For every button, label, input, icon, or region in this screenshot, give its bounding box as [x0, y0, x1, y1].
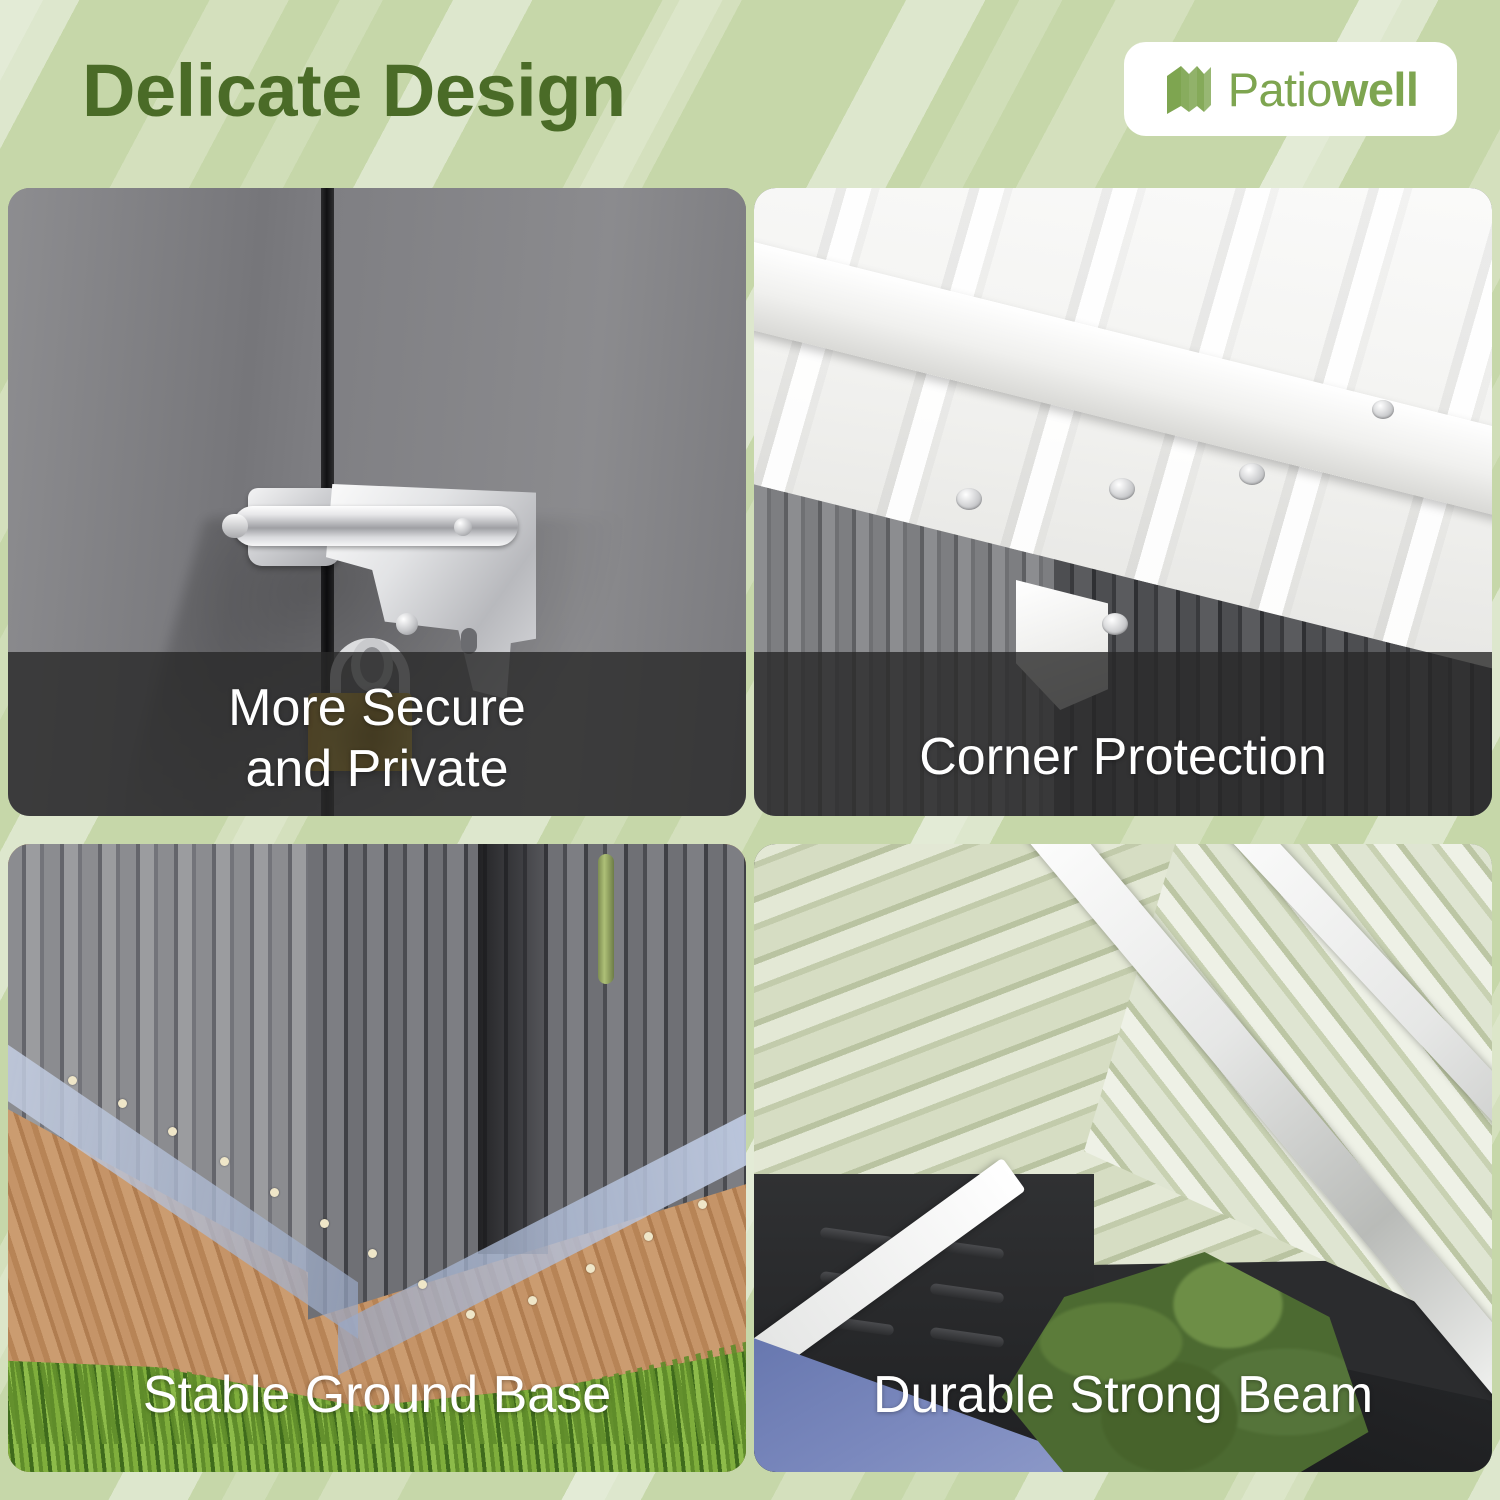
door-hinge — [598, 854, 614, 984]
header: Delicate Design Patiowell — [0, 0, 1500, 180]
panel-stable-ground-base: Stable Ground Base — [8, 844, 746, 1472]
corrugated-panel-icon — [1163, 62, 1215, 116]
panel-caption: More Secure and Private — [8, 652, 746, 816]
panel-durable-strong-beam: Durable Strong Beam — [754, 844, 1492, 1472]
caption-line-1: More Secure — [42, 678, 712, 739]
caption-line-1: Stable Ground Base — [143, 1365, 611, 1426]
roof-screw — [1372, 400, 1394, 419]
hasp-rivet — [396, 613, 418, 635]
slide-bolt-knob — [222, 514, 248, 538]
base-rivet — [586, 1264, 595, 1273]
roof-screw — [956, 488, 982, 510]
door-recess-shadow — [478, 844, 548, 1254]
base-rivet — [220, 1157, 229, 1166]
roof-screw — [1102, 613, 1128, 635]
roof-screw — [1109, 478, 1135, 500]
panel-corner-protection: Corner Protection — [754, 188, 1492, 816]
caption-line-2: and Private — [42, 739, 712, 800]
panel-caption: Durable Strong Beam — [754, 1322, 1492, 1472]
base-rivet — [466, 1310, 475, 1319]
base-rivet — [118, 1099, 127, 1108]
slide-bolt-barrel — [233, 506, 518, 546]
brand-wordmark-bold: well — [1332, 63, 1418, 116]
base-rivet — [270, 1188, 279, 1197]
brand-wordmark-light: Patio — [1228, 63, 1332, 116]
brand-wordmark: Patiowell — [1228, 66, 1419, 113]
base-rivet — [320, 1219, 329, 1228]
panel-caption: Stable Ground Base — [8, 1322, 746, 1472]
caption-line-1: Corner Protection — [919, 727, 1327, 788]
base-rivet — [528, 1296, 537, 1305]
base-rivet — [418, 1280, 427, 1289]
base-rivet — [698, 1200, 707, 1209]
panel-caption: Corner Protection — [754, 652, 1492, 816]
hasp-keyhole — [461, 628, 477, 654]
brand-logo-badge: Patiowell — [1124, 42, 1457, 136]
base-rivet — [168, 1127, 177, 1136]
base-rivet — [68, 1076, 77, 1085]
base-rivet — [644, 1232, 653, 1241]
page-title: Delicate Design — [82, 48, 626, 133]
caption-line-1: Durable Strong Beam — [873, 1365, 1373, 1426]
hasp-rivet — [454, 518, 472, 536]
base-rivet — [368, 1249, 377, 1258]
panel-more-secure-and-private: More Secure and Private — [8, 188, 746, 816]
roof-screw — [1239, 463, 1265, 485]
feature-panel-grid: More Secure and Private Corner Protectio… — [8, 188, 1492, 1472]
